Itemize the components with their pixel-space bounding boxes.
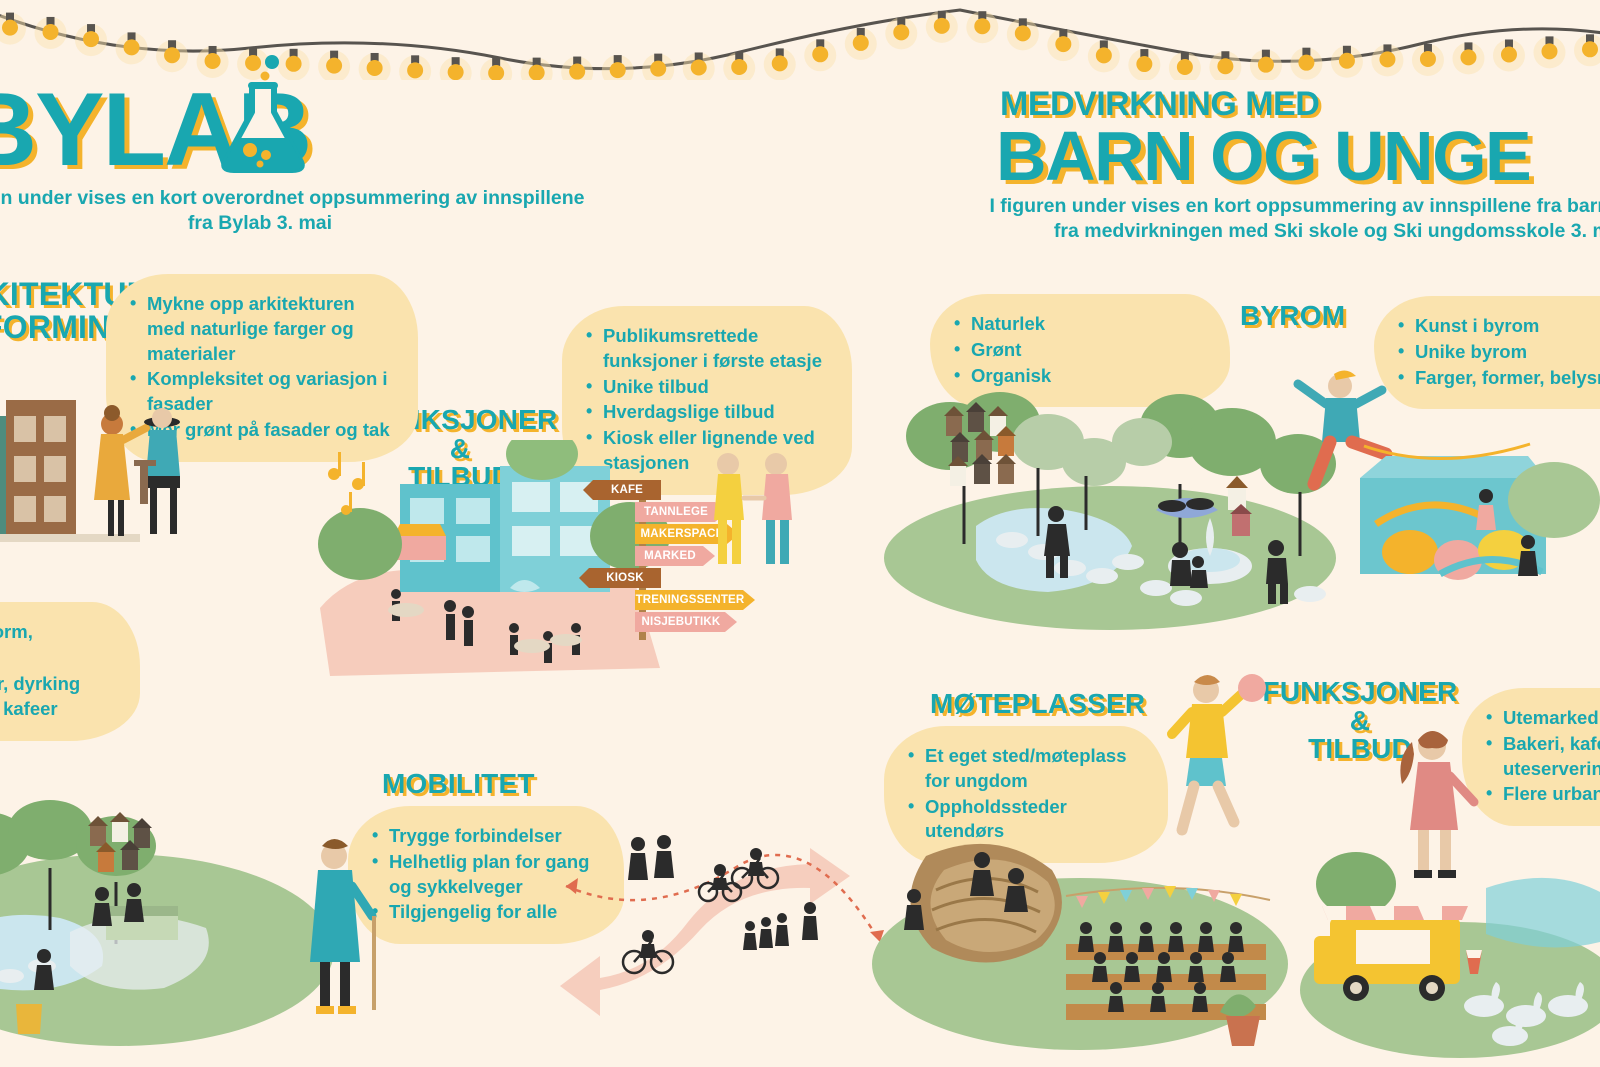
list-item: plantekasser, dyrking [0,672,116,697]
illustration-person-ball [1160,664,1270,844]
bulb-glow [1169,52,1201,80]
bylab-logo: BYLAB [0,78,392,188]
bulb-icon [164,47,180,63]
bulb-cap [1181,52,1189,60]
bulb-icon [569,64,585,80]
list-item: Mykne opp arkitekturen med naturlige far… [130,292,394,366]
bulb-glow [845,28,877,60]
bullet-list-funksjoner-hoyre: Utemarked Bakeri, kafe, uteservering Fle… [1486,706,1600,807]
music-notes [328,452,365,515]
bulb-glow [602,55,634,80]
illustration-buildings [0,380,200,570]
bulb-glow [683,52,715,80]
bulb-glow [156,40,188,72]
bulb-cap [128,32,136,40]
illustration-pond-park [0,790,340,1060]
bulb-glow [521,58,553,80]
right-subtitle-line1: I figuren under vises en kort oppsummeri… [960,194,1600,219]
bulb-icon [1015,25,1031,41]
bulb-glow [926,11,958,43]
bulb-cap [1019,18,1027,26]
bulb-cap [735,52,743,60]
bulb-cap [1383,44,1391,52]
bulb-cap [87,24,95,32]
bulb-cap [1221,51,1229,59]
bulb-icon [1096,47,1112,63]
bulb-icon [691,59,707,75]
bulb-glow [1047,29,1079,61]
bulb-icon [326,58,342,74]
bulb-cap [1424,44,1432,52]
bulb-cap [654,54,662,62]
bulb-glow [723,52,755,80]
list-item: Utemarked [1486,706,1600,731]
bulb-cap [978,11,986,19]
infographic-canvas: BYLAB I figuren under vises en kort over… [0,0,1600,1067]
bulb-cap [492,58,500,66]
bulb-cap [938,11,946,19]
left-subtitle: I figuren under vises en kort overordnet… [0,186,590,237]
bulb-icon [1136,56,1152,72]
bulb-cap [168,40,176,48]
bulb-glow [75,24,107,56]
bulb-glow [0,13,26,45]
signpost-label: NISJEBUTIKK [635,612,737,632]
bulb-icon [1177,59,1193,75]
bulb-glow [1412,44,1444,76]
bylab-logo-text: BYLAB [0,78,392,182]
bulb-cap [452,57,460,65]
bulb-cap [47,17,55,25]
bulb-cap [816,39,824,47]
bulb-icon [934,18,950,34]
bulb-cap [1343,46,1351,54]
bulb-cap [1464,42,1472,50]
list-item: Naturlek [954,312,1206,337]
bulb-cap [6,13,14,21]
illustration-woman-cane [296,830,386,1020]
bulb-icon [1379,51,1395,67]
bulb-cap [1059,29,1067,37]
bulb-cap [1505,39,1513,47]
bulb-icon [731,59,747,75]
bulb-glow [1331,46,1363,78]
bulb-icon [367,60,383,76]
bulb-icon [1339,53,1355,69]
bulb-icon [812,46,828,62]
bulb-icon [2,20,18,36]
bulb-glow [1209,51,1241,80]
heading-moteplasser: MØTEPLASSER [930,690,1145,719]
bulb-glow [1533,36,1565,68]
bulb-icon [43,24,59,40]
bulb-icon [893,24,909,40]
list-item: Bakeri, kafe, uteservering [1486,732,1600,782]
bulb-cap [1586,34,1594,42]
person-standing [94,405,146,536]
list-item: Kunst i byrom [1398,314,1600,339]
illustration-couple [700,450,810,570]
bulb-glow [885,17,917,49]
heading-mobilitet: MOBILITET [382,770,535,799]
bulb-glow [1574,34,1600,66]
bulb-cap [1262,50,1270,58]
bulb-icon [488,65,504,80]
bulb-cap [1302,48,1310,56]
bulb-glow [480,58,512,80]
list-item: Unike tilbud [586,375,828,400]
bulb-glow [35,17,67,49]
bulb-cap [1545,36,1553,44]
bulb-glow [642,54,674,80]
bulb-icon [83,31,99,47]
bulb-icon [407,62,423,78]
illustration-playground [1290,360,1600,620]
bulb-cap [533,58,541,66]
bulb-glow [1128,49,1160,80]
bulb-glow [764,48,796,80]
signpost-label: KAFE [583,480,661,500]
bulb-cap [857,28,865,36]
bulb-icon [772,55,788,71]
bulb-icon [1501,46,1517,62]
signpost-label: TRENINGSSENTER [635,590,755,610]
bulb-glow [1290,48,1322,80]
bulb-glow [399,55,431,80]
bulb-icon [529,65,545,80]
list-item: Naturlige i form, [0,620,116,645]
bulb-cap [776,48,784,56]
bulb-glow [440,57,472,80]
heading-byrom: BYROM [1240,302,1345,331]
bullet-list-byrom-venstre: Naturlek Grønt Organisk [954,312,1206,388]
right-subtitle-line2: fra medvirkningen med Ski skole og Ski u… [960,219,1600,244]
bulb-glow [966,11,998,43]
bulb-glow [318,51,350,80]
bulb-glow [561,57,593,80]
signpost-label: KIOSK [579,568,661,588]
bulb-glow [1250,50,1282,80]
bulb-cap [695,52,703,60]
list-item: Flere urbane tilbud [1486,782,1600,807]
bulb-cap [330,51,338,59]
bulb-glow [1007,18,1039,50]
list-item: Hverdagslige tilbud [586,400,828,425]
list-item: Et eget sted/møteplass for ungdom [908,744,1144,794]
bulb-icon [1460,49,1476,65]
bulb-icon [1582,41,1598,57]
bulb-icon [853,35,869,51]
bulb-cap [897,17,905,25]
bulb-glow [116,32,148,64]
bulb-glow [1493,39,1525,71]
bulb-cap [1140,49,1148,57]
right-title: BARN OG UNGE [996,116,1530,196]
bulb-icon [650,61,666,77]
bulb-cap [411,55,419,63]
illustration-food-truck [1300,830,1600,1060]
list-item: trykk [0,646,116,671]
bulb-icon [1298,55,1314,71]
illustration-mobility [560,830,890,1030]
illustration-park [880,380,1340,630]
bulb-icon [1055,36,1071,52]
bulb-glow [804,39,836,71]
list-item: Publikumsrettede funksjoner i første eta… [586,324,828,374]
person-jumping [1298,370,1386,484]
bulb-cap [614,55,622,63]
bulb-icon [1217,58,1233,74]
list-item: fuglekasser, kafeer [0,697,116,722]
bulb-cap [573,57,581,65]
bulb-icon [974,18,990,34]
bulb-glow [1371,44,1403,76]
list-item: Grønt [954,338,1206,363]
bulb-icon [124,39,140,55]
bulb-cap [1100,40,1108,48]
bulb-glow [1088,40,1120,72]
bulb-icon [1541,43,1557,59]
bulb-glow [359,53,391,80]
bulb-icon [1420,51,1436,67]
bulb-glow [1452,42,1484,74]
callout-gronnstruktur: Naturlige i form, trykk plantekasser, dy… [0,602,140,741]
bulb-icon [448,64,464,80]
right-subtitle: I figuren under vises en kort oppsummeri… [960,194,1600,245]
bullet-list-gronnstruktur: Naturlige i form, trykk plantekasser, dy… [0,620,116,722]
bulb-cap [209,46,217,54]
bulb-icon [610,62,626,78]
bulb-icon [1258,57,1274,73]
bulb-cap [371,53,379,61]
flask-icon [208,54,318,174]
